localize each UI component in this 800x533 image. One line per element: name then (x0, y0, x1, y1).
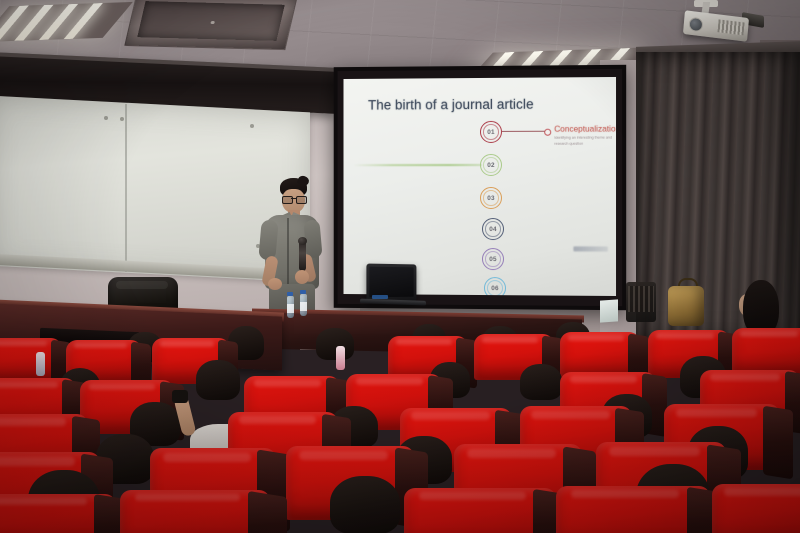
audience-seat[interactable] (556, 486, 710, 533)
timeline-node-01[interactable]: 01 (480, 121, 502, 143)
microphone-icon (299, 241, 306, 271)
mobile-phone (172, 390, 188, 403)
water-bottle (336, 346, 345, 370)
audience-seat[interactable] (120, 490, 270, 533)
whiteboard-seam (125, 104, 127, 272)
audience-seat[interactable] (0, 338, 62, 382)
timeline-node-number: 03 (487, 195, 495, 202)
whiteboard-clip (120, 117, 124, 121)
slide-active-label: Conceptualization (554, 124, 616, 133)
timeline-node-04[interactable]: 04 (482, 218, 504, 240)
slide-active-subtext: Identifying an interesting theme and res… (554, 136, 616, 147)
microphone-head-icon (298, 237, 307, 245)
audience-seat[interactable] (732, 328, 800, 376)
whiteboard-clip (250, 124, 254, 128)
slide-watermark (573, 246, 607, 251)
timeline-node-number: 02 (487, 161, 495, 168)
attendee-head (330, 476, 400, 533)
timeline-node-03[interactable]: 03 (480, 187, 502, 209)
timeline-node-02[interactable]: 02 (480, 154, 502, 176)
attendee-head (520, 364, 562, 400)
projector-lens-icon (688, 17, 703, 33)
timeline-node-05[interactable]: 05 (482, 248, 504, 270)
timeline-node-number: 01 (487, 128, 495, 135)
timeline-node-number: 04 (489, 226, 497, 233)
attendee-head (196, 360, 240, 400)
presenter-shirt-placket (287, 218, 289, 286)
laptop-sticker (372, 295, 388, 299)
attendee-head (316, 328, 354, 360)
water-bottle (287, 296, 294, 318)
presenter-hand-left (268, 278, 282, 290)
lecture-hall-photo: The birth of a journal article Conceptua… (0, 0, 800, 533)
whiteboard-clip (104, 116, 108, 120)
presenter-hand-right (295, 270, 309, 284)
timeline-progress-line (353, 164, 482, 167)
audience-seat[interactable] (404, 488, 556, 533)
timeline-connector-line (502, 131, 546, 133)
glasses-icon (282, 196, 305, 202)
timeline-node-06[interactable]: 06 (484, 277, 506, 296)
audience-seat[interactable] (712, 484, 800, 533)
projector-vent (717, 19, 744, 35)
water-bottle (300, 294, 307, 316)
side-chair-back-slats (628, 286, 654, 312)
timeline-connector-dot (544, 128, 551, 135)
bottle-cap (287, 292, 293, 296)
audience-seat[interactable] (0, 494, 116, 533)
audience-seating (0, 318, 800, 533)
water-bottle (36, 352, 45, 376)
ceiling-ac-unit (124, 0, 297, 50)
timeline-node-number: 05 (489, 256, 497, 263)
bottle-cap (300, 290, 306, 294)
timeline-node-number: 06 (491, 285, 499, 292)
